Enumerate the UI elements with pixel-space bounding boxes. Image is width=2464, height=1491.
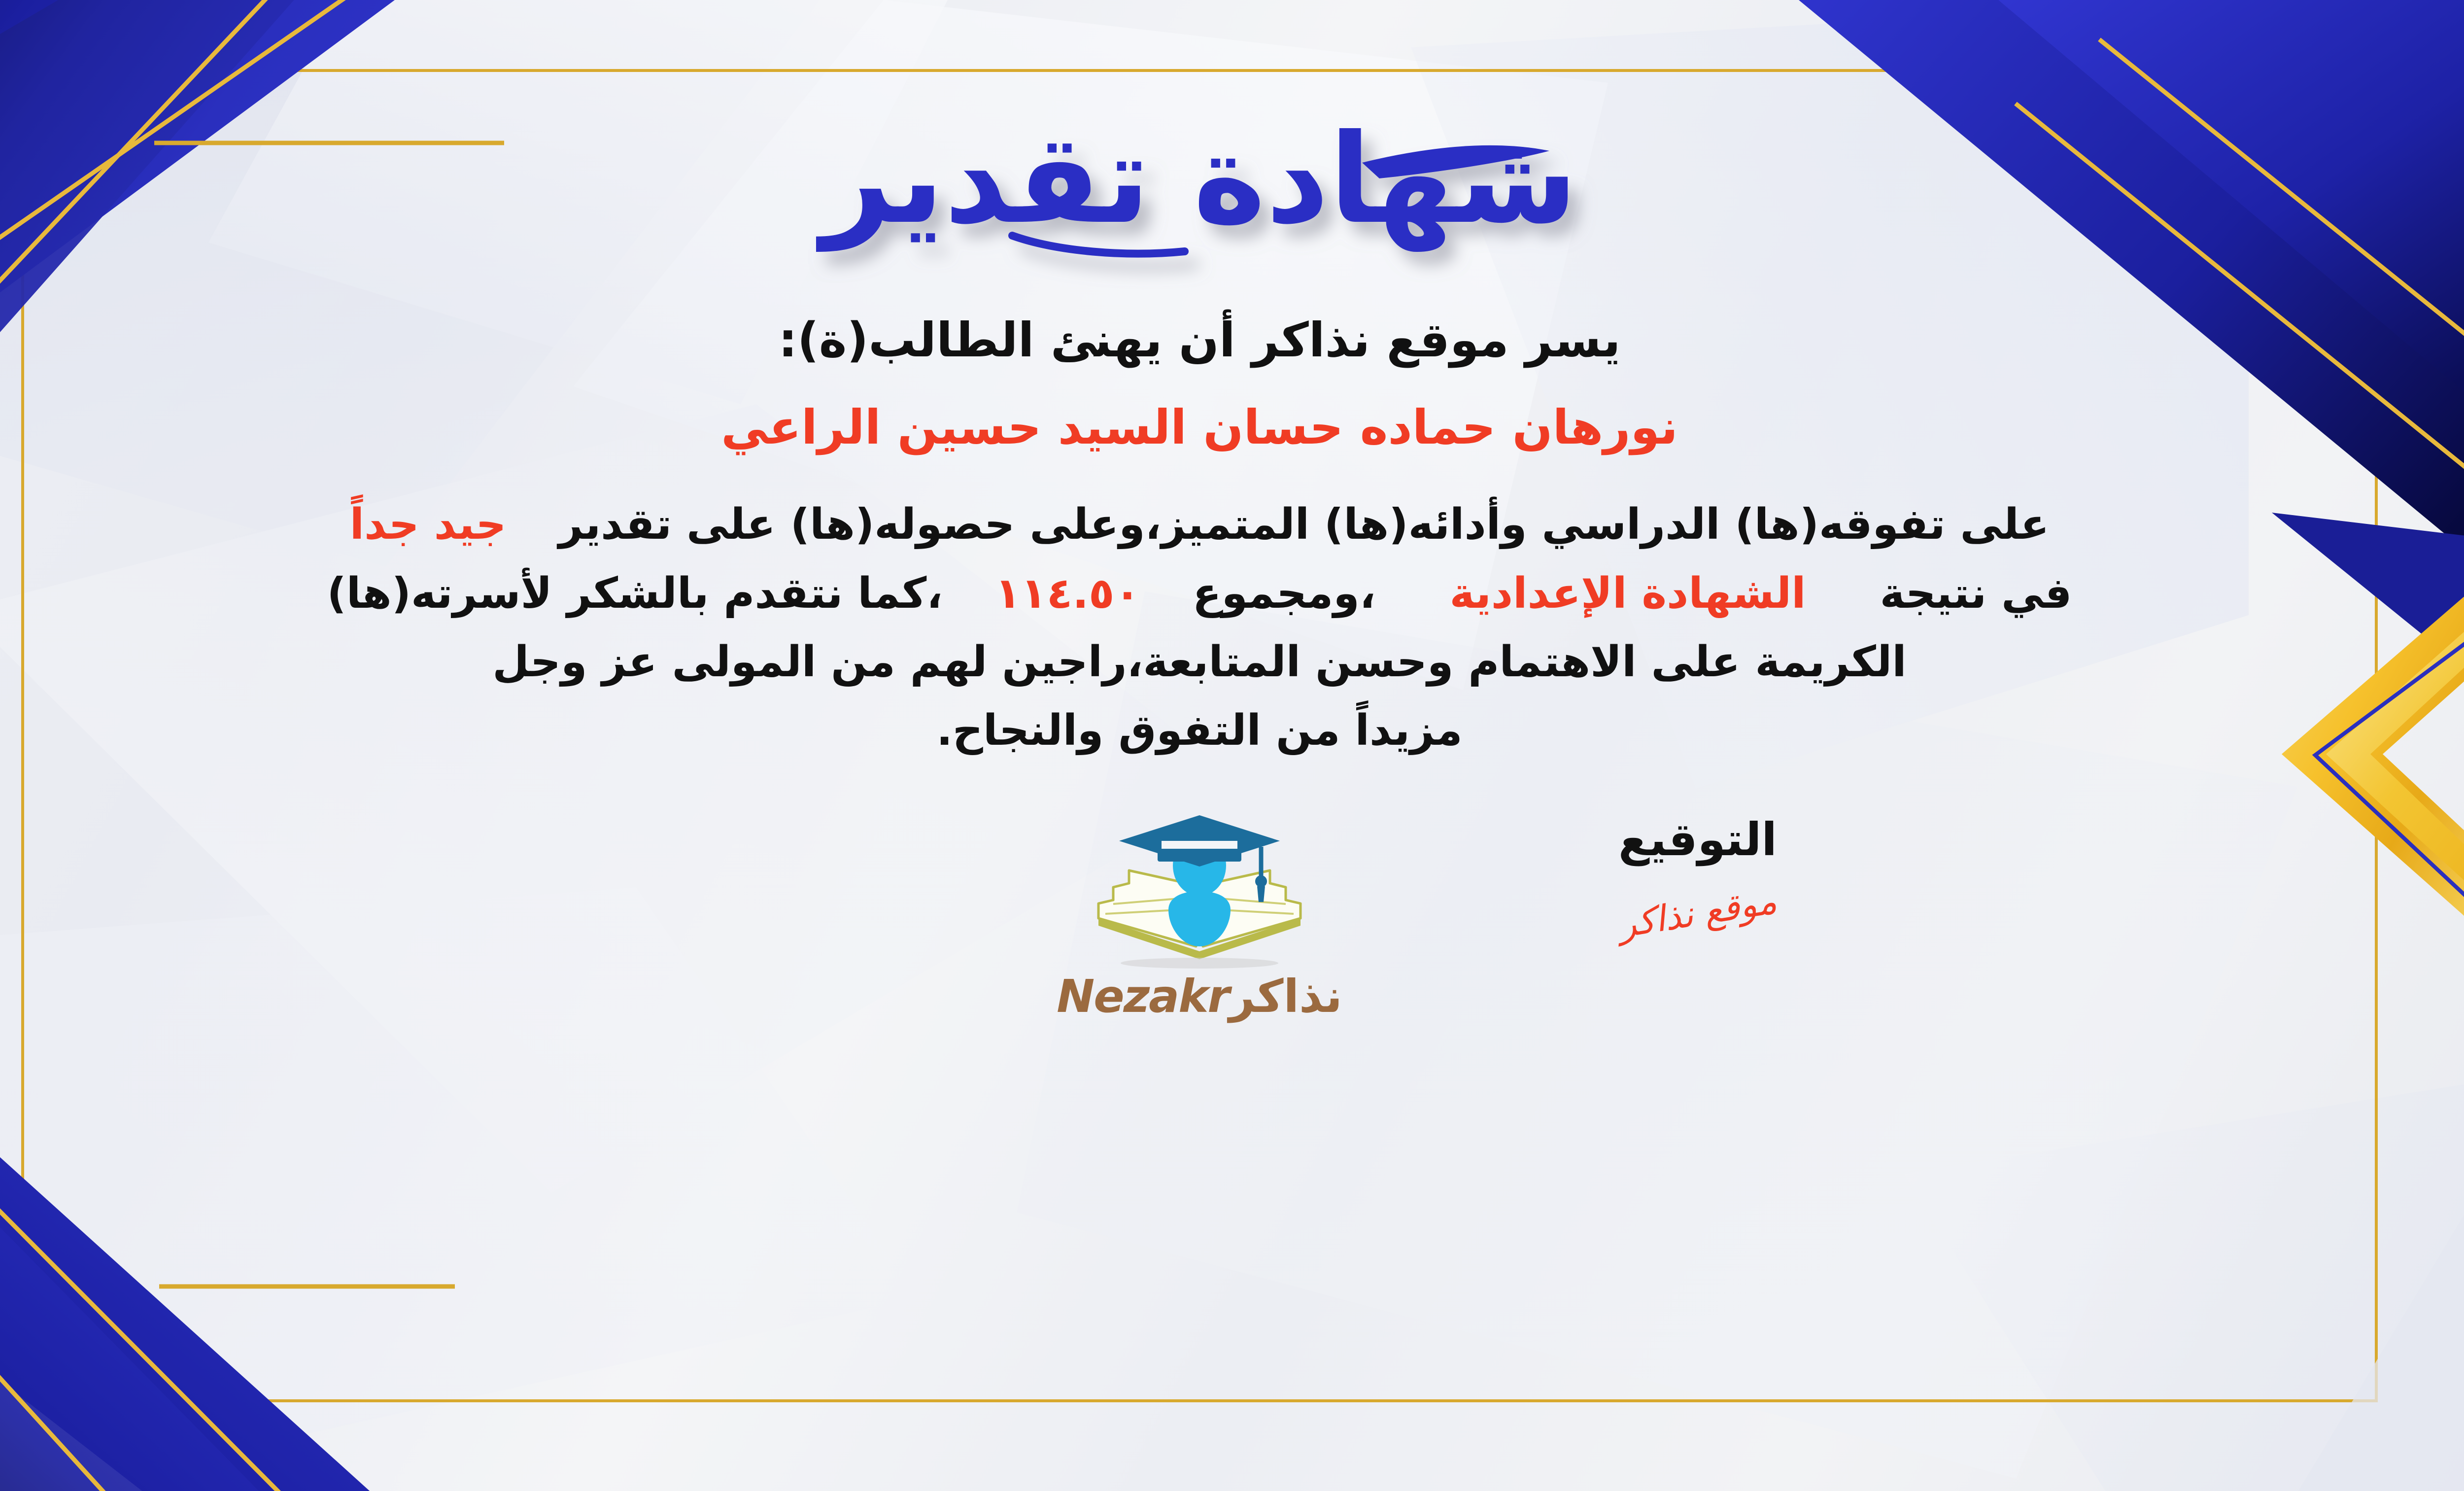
- result-label: في نتيجة: [1880, 569, 2072, 618]
- title-calligraphy: شهادة تقدير: [781, 104, 1618, 271]
- student-name: نورهان حماده حسان السيد حسين الراعي: [66, 399, 2333, 456]
- signature-mark: موقع نذاكر: [1616, 880, 1780, 946]
- achievement-line-2: في نتيجة الشهادة الإعدادية ،ومجموع ١١٤.٥…: [66, 559, 2333, 628]
- exam-name: الشهادة الإعدادية: [1449, 569, 1806, 618]
- logo-shadow: [1121, 958, 1278, 969]
- signature-block: التوقيع موقع نذاكر: [1545, 817, 1850, 934]
- thanks-text: ،كما نتقدم بالشكر لأسرته(ها): [327, 569, 943, 618]
- achievement-line-4: مزيداً من التفوق والنجاح.: [66, 696, 2333, 765]
- certificate-page: شهادة تقدير يسر موقع نذاكر أن يهنئ الطال…: [0, 0, 2464, 1491]
- achievement-text-part-1: على تفوقه(ها) الدراسي وأدائه(ها) المتميز…: [558, 500, 2049, 549]
- certificate-footer: التوقيع موقع نذاكر: [66, 812, 2333, 1402]
- grade-value: جيد جداً: [350, 500, 507, 549]
- certificate-title: شهادة تقدير: [781, 94, 1618, 281]
- signature-label: التوقيع: [1545, 817, 1850, 863]
- total-label: ،ومجموع: [1193, 569, 1376, 618]
- logo-arabic-text: نذاكر: [1229, 970, 1342, 1023]
- achievement-line-1: على تفوقه(ها) الدراسي وأدائه(ها) المتميز…: [66, 490, 2333, 559]
- intro-line: يسر موقع نذاكر أن يهنئ الطالب(ة):: [66, 311, 2333, 370]
- achievement-paragraph: على تفوقه(ها) الدراسي وأدائه(ها) المتميز…: [66, 490, 2333, 765]
- title-text: شهادة تقدير: [816, 107, 1577, 252]
- site-logo: نذاكرNezakr: [1042, 812, 1357, 1023]
- logo-wordmark: نذاكرNezakr: [1042, 970, 1357, 1023]
- total-score-value: ١١٤.٥٠: [995, 569, 1140, 618]
- logo-latin-text: Nezakr: [1057, 970, 1229, 1023]
- achievement-line-3: الكريمة على الاهتمام وحسن المتابعة،راجين…: [66, 628, 2333, 696]
- graduation-book-logo-icon: [1084, 812, 1315, 975]
- certificate-content: شهادة تقدير يسر موقع نذاكر أن يهنئ الطال…: [21, 69, 2378, 1402]
- certificate-body: يسر موقع نذاكر أن يهنئ الطالب(ة): نورهان…: [66, 311, 2333, 765]
